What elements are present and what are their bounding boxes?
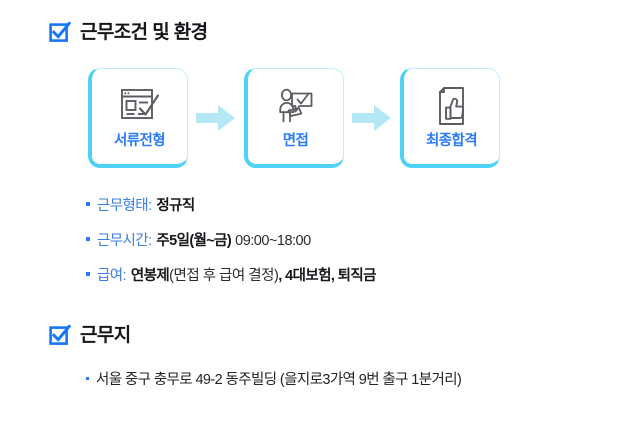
condition-value-days: 주5일(월~금)	[156, 229, 231, 250]
job-posting-page: 근무조건 및 환경 서류전	[0, 0, 628, 427]
condition-value-benefits: , 4대보험, 퇴직금	[278, 264, 376, 285]
process-step-interview: 면접	[244, 68, 344, 168]
hiring-process-flow: 서류전형	[88, 68, 500, 168]
document-check-icon	[119, 85, 161, 127]
location-address: 서울 중구 충무로 49-2 동주빌딩 (을지로3가역 9번 출구 1분거리)	[96, 368, 461, 389]
bullet-square-icon	[86, 237, 90, 241]
list-item: 근무형태: 정규직	[86, 194, 376, 215]
bullet-square-icon	[86, 202, 90, 206]
condition-value: 정규직	[156, 194, 194, 215]
condition-label: 근무형태:	[97, 194, 151, 215]
process-step-label: 최종합격	[426, 134, 477, 149]
list-item: 근무시간: 주5일(월~금) 09:00~18:00	[86, 229, 376, 250]
list-item: 서울 중구 충무로 49-2 동주빌딩 (을지로3가역 9번 출구 1분거리)	[86, 368, 461, 389]
condition-value-hours: 09:00~18:00	[235, 233, 311, 249]
section-title: 근무조건 및 환경	[80, 23, 208, 42]
arrow-right-icon	[188, 104, 244, 132]
process-step-document-screening: 서류전형	[88, 68, 188, 168]
list-item: 급여: 연봉제 (면접 후 급여 결정) , 4대보험, 퇴직금	[86, 264, 376, 285]
work-location-list: 서울 중구 충무로 49-2 동주빌딩 (을지로3가역 9번 출구 1분거리)	[86, 368, 461, 389]
section-title: 근무지	[80, 326, 131, 345]
checkbox-checked-icon	[49, 21, 71, 43]
condition-label: 근무시간:	[97, 229, 151, 250]
bullet-square-icon	[86, 272, 90, 276]
process-step-final-acceptance: 최종합격	[400, 68, 500, 168]
work-conditions-list: 근무형태: 정규직 근무시간: 주5일(월~금) 09:00~18:00 급여:…	[86, 194, 376, 285]
condition-value-salary-type: 연봉제	[131, 264, 169, 285]
section-heading-work-location: 근무지	[49, 324, 131, 346]
process-step-label: 서류전형	[114, 134, 165, 149]
section-heading-work-conditions: 근무조건 및 환경	[49, 21, 208, 43]
bullet-square-icon	[86, 377, 89, 380]
checkbox-checked-icon	[49, 324, 71, 346]
interview-person-speech-bubble-icon	[275, 85, 317, 127]
process-step-label: 면접	[283, 134, 308, 149]
document-thumbs-up-icon	[431, 85, 473, 127]
condition-label: 급여:	[97, 264, 126, 285]
arrow-right-icon	[344, 104, 400, 132]
condition-value-salary-note: (면접 후 급여 결정)	[169, 264, 278, 285]
